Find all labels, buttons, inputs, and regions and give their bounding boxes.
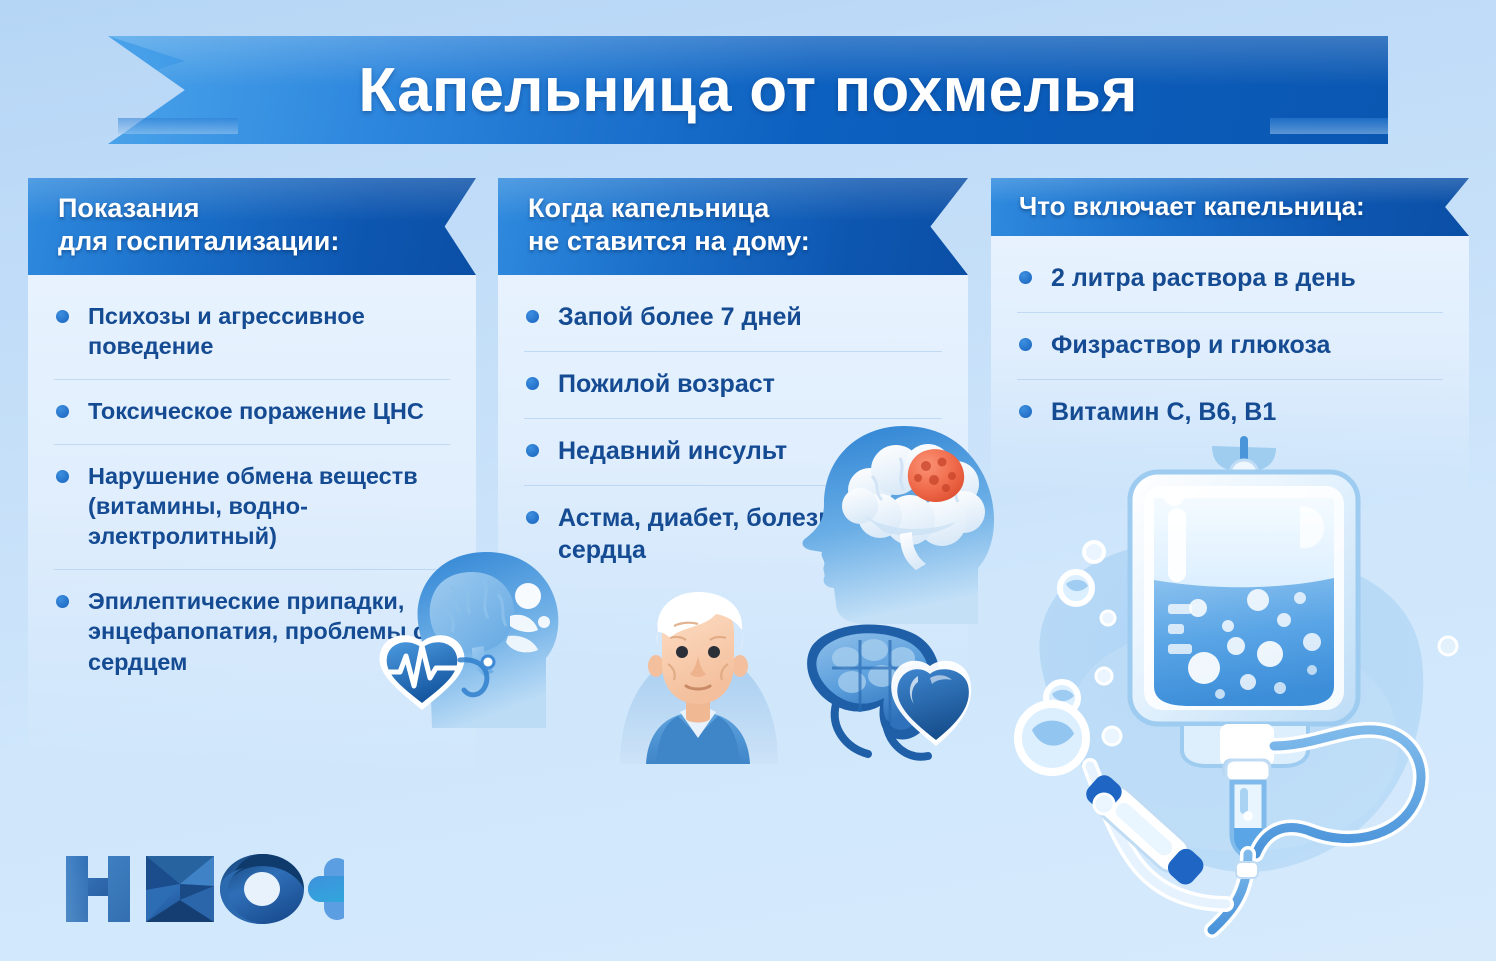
ribbon-tail-right (1270, 118, 1388, 134)
logo-letter-n (66, 856, 130, 922)
column-indications-header: Показания для госпитализации: (28, 178, 476, 275)
column-contraindications-header: Когда капельница не ставится на дому: (498, 178, 968, 275)
indications-list: Психозы и агрессивное поведение Токсичес… (54, 301, 450, 695)
column-contents: Что включает капельница: 2 литра раствор… (991, 178, 1469, 492)
column-contraindications: Когда капельница не ставится на дому: За… (498, 178, 968, 675)
column-indications-body: Психозы и агрессивное поведение Токсичес… (28, 275, 476, 775)
list-item: Пожилой возраст (524, 368, 942, 419)
list-item: 2 литра раствора в день (1017, 262, 1443, 313)
column-contents-body: 2 литра раствора в день Физраствор и глю… (991, 236, 1469, 492)
list-item: Эпилептические припадки, энцефапопатия, … (54, 586, 450, 694)
list-item: Астма, диабет, болезни сердца (524, 502, 942, 584)
list-item: Токсическое поражение ЦНС (54, 396, 450, 445)
logo-neo-plus (62, 842, 344, 928)
list-item: Физраствор и глюкоза (1017, 329, 1443, 380)
list-item: Психозы и агрессивное поведение (54, 301, 450, 380)
column-contraindications-heading: Когда капельница не ставится на дому: (528, 192, 810, 259)
column-contents-header: Что включает капельница: (991, 178, 1469, 236)
logo-letter-o (220, 854, 304, 924)
contents-list: 2 литра раствора в день Физраствор и глю… (1017, 262, 1443, 446)
list-item: Недавний инсульт (524, 435, 942, 486)
iv-drip-bag-with-tubing-and-bubbles-icon (1012, 430, 1484, 950)
column-contraindications-body: Запой более 7 дней Пожилой возраст Недав… (498, 275, 968, 675)
title-ribbon: Капельница от похмелья (108, 36, 1388, 144)
list-item: Запой более 7 дней (524, 301, 942, 352)
column-indications: Показания для госпитализации: Психозы и … (28, 178, 476, 775)
column-contents-heading: Что включает капельница: (1019, 190, 1365, 222)
logo-letter-e (146, 856, 214, 922)
logo-plus (308, 858, 344, 920)
column-indications-heading: Показания для госпитализации: (58, 192, 339, 259)
ribbon-tail-left (118, 118, 238, 134)
contraindications-list: Запой более 7 дней Пожилой возраст Недав… (524, 301, 942, 584)
list-item: Витамин С, В6, В1 (1017, 396, 1443, 446)
heading-line-2: для госпитализации: (58, 226, 339, 256)
heading-line-1: Показания (58, 193, 200, 223)
list-item: Нарушение обмена веществ (витамины, водн… (54, 461, 450, 570)
heading-line-2: не ставится на дому: (528, 226, 810, 256)
heading-line-1: Когда капельница (528, 193, 769, 223)
page-title: Капельница от похмелья (358, 55, 1137, 126)
